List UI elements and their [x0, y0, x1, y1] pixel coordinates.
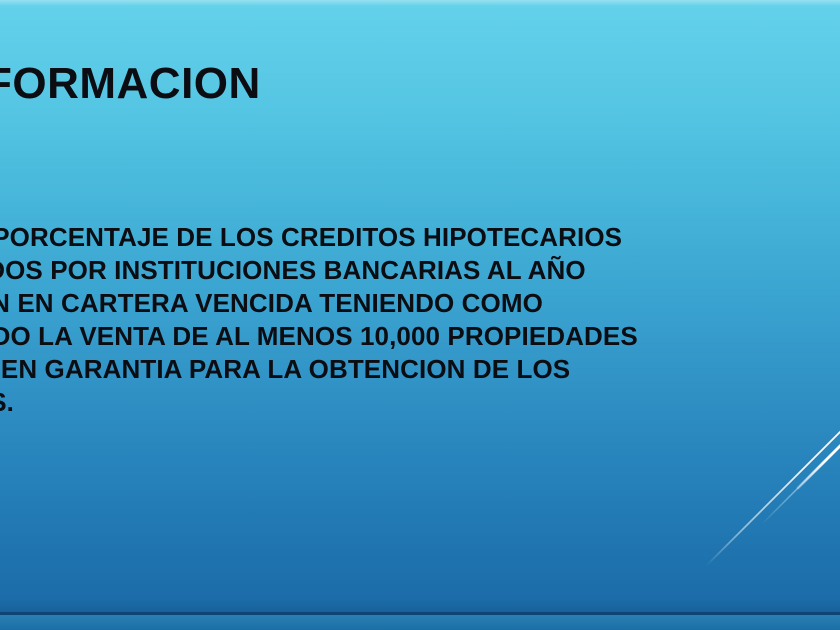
top-sheen-band: [0, 0, 840, 6]
slide-body-text: UN ALTO PORCENTAJE DE LOS CREDITOS HIPOT…: [0, 221, 832, 419]
body-line: RESULTADO LA VENTA DE AL MENOS 10,000 PR…: [0, 320, 832, 353]
body-line: PUESTAS EN GARANTIA PARA LA OBTENCION DE…: [0, 353, 832, 386]
bottom-glow-band: [0, 615, 840, 630]
body-line: OTORGADOS POR INSTITUCIONES BANCARIAS AL…: [0, 254, 832, 287]
body-line: TERMINAN EN CARTERA VENCIDA TENIENDO COM…: [0, 287, 832, 320]
body-line: UN ALTO PORCENTAJE DE LOS CREDITOS HIPOT…: [0, 221, 832, 254]
body-line: CREDITOS.: [0, 386, 832, 419]
slide-title: INFORMACION: [0, 58, 840, 110]
presentation-slide: INFORMACION UN ALTO PORCENTAJE DE LOS CR…: [0, 0, 840, 630]
